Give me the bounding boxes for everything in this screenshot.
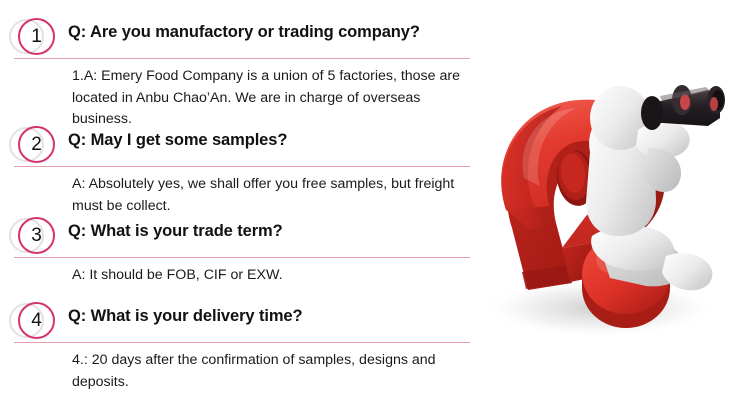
faq-question-text: Q: What is your delivery time?: [68, 307, 482, 326]
faq-question-text: Q: Are you manufactory or trading compan…: [68, 23, 482, 42]
faq-answer-text: 4.: 20 days after the confirmation of sa…: [72, 350, 472, 393]
faq-number-badge: 3: [18, 217, 55, 254]
question-mark-illustration: [470, 60, 730, 350]
faq-divider: [14, 58, 470, 59]
faq-answer-text: A: Absolutely yes, we shall offer you fr…: [72, 174, 472, 217]
faq-number-badge: 4: [18, 302, 55, 339]
faq-divider: [14, 166, 470, 167]
binoculars-icon: [641, 85, 725, 130]
faq-question-row: 1 Q: Are you manufactory or trading comp…: [0, 14, 490, 58]
faq-question-row: 4 Q: What is your delivery time?: [0, 298, 490, 342]
faq-item: 2 Q: May I get some samples? A: Absolute…: [0, 122, 490, 166]
faq-number-badge: 2: [18, 126, 55, 163]
faq-question-text: Q: May I get some samples?: [68, 131, 482, 150]
faq-question-text: Q: What is your trade term?: [68, 222, 482, 241]
faq-number-badge: 1: [18, 18, 55, 55]
faq-page: 1 Q: Are you manufactory or trading comp…: [0, 0, 730, 413]
faq-answer-text: A: It should be FOB, CIF or EXW.: [72, 265, 472, 287]
figure-with-binoculars: [586, 85, 725, 290]
faq-divider: [14, 257, 470, 258]
faq-divider: [14, 342, 470, 343]
faq-question-row: 2 Q: May I get some samples?: [0, 122, 490, 166]
faq-item: 3 Q: What is your trade term? A: It shou…: [0, 213, 490, 257]
faq-item: 1 Q: Are you manufactory or trading comp…: [0, 14, 490, 58]
faq-question-row: 3 Q: What is your trade term?: [0, 213, 490, 257]
faq-list: 1 Q: Are you manufactory or trading comp…: [0, 0, 490, 413]
faq-item: 4 Q: What is your delivery time? 4.: 20 …: [0, 298, 490, 342]
